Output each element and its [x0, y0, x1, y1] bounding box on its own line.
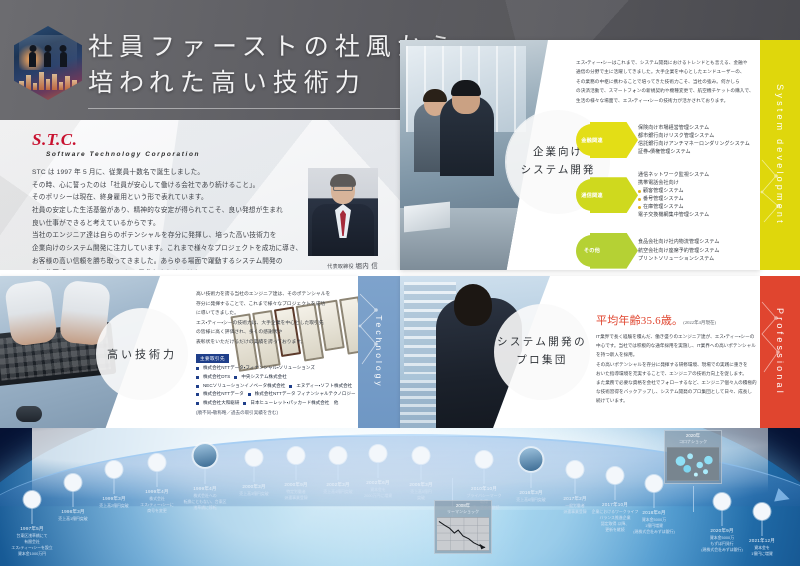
timeline-year: 2002年3月	[323, 482, 352, 488]
timeline-year: 2000年9月	[284, 482, 307, 488]
client-name: 株式会社NTTデータ フィナンシャルテクノロジー	[255, 390, 356, 399]
bubble-line2: プロ集団	[516, 352, 568, 370]
service-item-row: 在庫管理システム	[638, 203, 709, 211]
bubble-line1: システム開発の	[497, 334, 587, 352]
system-development-intro: エス・ティー・シーはこれまで、システム開発におけるトレンドとも言える、金融や 通…	[576, 58, 752, 105]
client-row: 株式会社DTS 中央システム株式会社	[196, 373, 358, 382]
intro-line: その業務の中枢に携わることで培ってきた技術力こそ、当社の強み。何かしら	[576, 77, 752, 86]
service-items: 通信ネットワーク監視システム 携帯電話会社向け 顧客管理システム 番号管理システ…	[638, 171, 709, 220]
square-bullet-icon	[196, 385, 199, 388]
service-item: 顧客管理システム	[643, 187, 684, 195]
stc-logo: S.T.C. Software Technology Corporation	[32, 130, 200, 158]
service-item: プリントソリューションシステム	[638, 255, 719, 263]
timeline-year: 2010年10月	[467, 486, 502, 492]
timeline-text: 特定労働者派遣事業登録	[284, 489, 307, 501]
client-row: 株式会社NTTデータ・フィナンシャル・ソリューションズ	[196, 364, 358, 373]
timeline-year: 1999年4月	[140, 489, 174, 495]
timeline-year: 2000年3月	[239, 484, 268, 490]
technology-line: 高い技術力を誇る当社のエンジニア達は、そのポテンシャルを	[196, 290, 352, 300]
timeline-text: 売上高4億円突破	[323, 489, 352, 495]
timeline-text: 台東区浅草橋にて有限会社エス・ティー・シーを設立資本金1000万円	[11, 533, 52, 556]
timeline-year: 2002年6月	[364, 480, 392, 486]
service-item: 信託銀行向けアンチマネーロンダリングシステム	[638, 140, 750, 148]
professional-line: また業務で必要な資格を会社でフォローするなど、エンジニア個々人の積極的	[596, 378, 752, 387]
inset-stem	[693, 486, 694, 512]
technology-line: 表彰状をいただけるだけの実績を誇っております。	[196, 338, 352, 348]
timeline-node-dot	[714, 493, 731, 510]
client-name: 株式会社DTS	[203, 373, 230, 382]
side-tab-system-development: System development	[760, 40, 800, 270]
timeline-text: 株式会社への転換にともない、台東区浅草橋に移転	[184, 493, 227, 511]
timeline-node-dot	[413, 447, 430, 464]
timeline-node-photo	[519, 447, 544, 472]
inset-lehman-shock[interactable]: 2008年 リーマンショック	[434, 500, 492, 554]
technology-text: 高い技術力を誇る当社のエンジニア達は、そのポテンシャルを 存分に発揮することで、…	[196, 290, 352, 348]
service-items: 食品会社向け社内物流管理システム 航空会社向け座席予約管理システム プリントソリ…	[638, 238, 719, 262]
service-item: 保険向け市場経営管理システム	[638, 124, 750, 132]
service-item: 電子交換機網集中管理システム	[638, 211, 709, 219]
client-name: 中央システム株式会社	[241, 373, 286, 382]
intro-line: エス・ティー・シーはこれまで、システム開発におけるトレンドとも言える、金融や	[576, 58, 752, 67]
timeline-year: 2005年3月	[409, 482, 432, 488]
side-tab-label: System development	[775, 84, 785, 226]
declining-chart-icon	[437, 517, 489, 551]
technology-line: 存分に発揮することで、これまで様々なプロジェクトを成功	[196, 300, 352, 310]
service-item-row: 番号管理システム	[638, 195, 709, 203]
service-item-row: 顧客管理システム	[638, 187, 709, 195]
stc-logo-main: S.T.C.	[32, 130, 200, 150]
timeline-node-dot	[370, 445, 387, 462]
executive-photo	[308, 168, 378, 256]
average-age-note: (2022年4月現在)	[683, 320, 716, 325]
executive-role: 代表取締役	[327, 264, 354, 270]
timeline-node-dot	[476, 451, 493, 468]
timeline-node-dot	[246, 449, 263, 466]
inset-label: リーマンショック	[437, 509, 489, 515]
timeline-node-dot	[149, 454, 166, 471]
professional-line: を持つ新人を採用。	[596, 350, 752, 359]
timeline-text: 売上高3億円突破	[239, 491, 268, 497]
timeline-node-dot	[754, 503, 771, 520]
client-company-list: 株式会社NTTデータ・フィナンシャル・ソリューションズ 株式会社DTS 中央シス…	[196, 364, 358, 418]
professional-line: 中心です。当社では积极的な通年採用を実施し、IT業界への高いポテンシャル	[596, 341, 752, 350]
technology-panel: 高い技術力 高い技術力を誇る当社のエンジニア達は、そのポテンシャルを 存分に発揮…	[0, 276, 358, 428]
timeline-node-dot	[106, 461, 123, 478]
timeline-text: 売上高6億円突破	[516, 497, 545, 503]
group-label: 金融関連	[576, 124, 608, 156]
square-bullet-icon	[196, 376, 199, 379]
timeline-text: 資本金を1億円に増資	[749, 545, 775, 557]
timeline-year: 2020年9月	[701, 528, 743, 534]
service-item: 証券・債権管理システム	[638, 148, 750, 156]
profile-line: 社員の安定した生活基盤があり、精神的な安定が得られてこそ、良い発想が生まれ	[32, 205, 294, 218]
client-name: 株式会社NTTデータ	[203, 390, 244, 399]
executive-name: 堀内 信	[355, 263, 378, 270]
timeline-node-dot	[330, 447, 347, 464]
profile-line: そのポリシーは現在、終身雇用という形で表れています。	[32, 192, 294, 205]
technology-bubble: 高い技術力	[96, 308, 188, 400]
timeline-text: 株式会社エス・ティー・シーに商号を変更	[140, 496, 174, 514]
professional-line: な技術習得をバックアップし、システム開発のプロ集団として日々、成長し	[596, 387, 752, 396]
service-item: 在庫管理システム	[643, 203, 684, 211]
timeline-node-dot	[65, 474, 82, 491]
timeline-node-dot	[567, 461, 584, 478]
square-bullet-icon	[234, 376, 237, 379]
service-group: 通信関連 通信ネットワーク監視システム 携帯電話会社向け 顧客管理システム 番号…	[576, 171, 756, 220]
professional-line: その高いポテンシャルを存分に発揮する研修環境、現場での実践に重きを	[596, 360, 752, 369]
professional-line: おいた指導環境を充実することで、エンジニアの技術力向上を促します。	[596, 369, 752, 378]
service-item: 携帯電話会社向け	[638, 179, 709, 187]
timeline-node-dot	[288, 447, 305, 464]
client-name: 株式会社大和総研	[203, 399, 239, 408]
timeline-year: 2017年10月	[592, 502, 639, 508]
timeline-node-dot	[24, 491, 41, 508]
timeline-year: 1999年4月	[184, 486, 227, 492]
intro-line: 通信の分野で主に活躍してきました。大手企業を中心としたエンドユーザーの、	[576, 67, 752, 76]
client-row: 株式会社大和総研 日本ヒューレット・パッカード株式会社 他	[196, 399, 358, 408]
timeline-year: 2017年2月	[563, 496, 586, 502]
service-items: 保険向け市場経営管理システム 都市銀行向けリスク管理システム 信託銀行向けアンチ…	[638, 124, 750, 156]
profile-line: 当社のエンジニア達は自らのポテンシャルを存分に発揮し、培った高い技術力を	[32, 230, 294, 243]
brochure-page: 社員ファーストの社風から 培われた高い技術力 S.T.C. Software T…	[0, 0, 800, 566]
service-item: 航空会社向け座席予約管理システム	[638, 247, 719, 255]
profile-line: プロ集団「エス・ティー・シー」に、是非おまかせください。	[32, 268, 294, 270]
timeline-node-dot	[607, 467, 624, 484]
timeline-node-dot	[646, 475, 663, 492]
side-tab-label: Professional	[775, 308, 785, 396]
professional-line: IT業界で長く経験を積んだ、働き盛りのエンジニア達が、エス・ティー・シーの	[596, 332, 752, 341]
client-name: NECソリューションイノベータ株式会社	[203, 382, 285, 391]
timeline-text: 売上高2億円突破	[99, 503, 128, 509]
timeline-year: 1997年5月	[11, 526, 52, 532]
client-list-note: (順不同・敬称略／過去の取引実績を含む)	[196, 409, 358, 418]
timeline-year: 2021年12月	[749, 538, 775, 544]
executive-caption: 代表取締役 堀内 信	[308, 260, 378, 270]
timeline-year: 1998年3月	[58, 509, 87, 515]
intro-line: 生活の様々な場面で、エス・ティー・シーの技術力が活かされております。	[576, 96, 752, 105]
side-tab-label: Technology	[374, 315, 384, 388]
square-bullet-icon	[196, 402, 199, 405]
profile-line: 企業向けのシステム開発に注力しています。これまで様々なプロジェクトを成功に導き、	[32, 243, 294, 256]
technology-line: に導いてきました。	[196, 309, 352, 319]
clients-tag: 主要取引先	[196, 354, 229, 363]
profile-line: STC は 1997 年 5 月に、従業員十数名で誕生しました。	[32, 167, 294, 180]
professional-bubble: システム開発の プロ集団	[494, 304, 590, 400]
average-age-headline: 平均年齢35.6歳。(2022年4月現在)	[596, 312, 716, 328]
hex-badge-telecom: 通信関連	[576, 175, 638, 215]
timeline-text: 一般労働者派遣事業登録	[563, 503, 586, 515]
client-name: エヌディー・ソフト株式会社	[296, 382, 352, 391]
professional-panel: システム開発の プロ集団 平均年齢35.6歳。(2022年4月現在) IT業界で…	[400, 276, 760, 428]
technology-line: の皆様に高く評価され、多くの感謝状や	[196, 328, 352, 338]
technology-line: エス・ティー・シーの技術力は、大手企業を中心とした取引先	[196, 319, 352, 329]
company-profile-panel: S.T.C. Software Technology Corporation S…	[0, 120, 400, 270]
square-bullet-icon	[243, 402, 246, 405]
side-tab-professional: Professional	[760, 276, 800, 428]
service-item: 食品会社向け社内物流管理システム	[638, 238, 719, 246]
system-development-panel: 企業向け システム開発 エス・ティー・シーはこれまで、システム開発におけるトレン…	[400, 40, 760, 270]
timeline-year: 1999年3月	[99, 496, 128, 502]
service-group: その他 食品会社向け社内物流管理システム 航空会社向け座席予約管理システム プリ…	[576, 231, 756, 270]
timeline-text: 売上高1億円突破	[58, 516, 87, 522]
profile-text: STC は 1997 年 5 月に、従業員十数名で誕生しました。 その時、心に誓…	[32, 167, 294, 270]
service-item: 番号管理システム	[643, 195, 684, 203]
profile-line: お客様の高い信頼を勝ち取ってきました。あらゆる場面で躍動するシステム開発の	[32, 256, 294, 269]
average-age-value: 平均年齢35.6歳。	[596, 315, 683, 327]
side-tab-technology: Technology	[358, 276, 400, 428]
professional-text: IT業界で長く経験を積んだ、働き盛りのエンジニア達が、エス・ティー・シーの 中心…	[596, 332, 752, 406]
company-history-timeline: 1997年5月 台東区浅草橋にて有限会社エス・ティー・シーを設立資本金1000万…	[0, 428, 800, 566]
professional-line: 続けています。	[596, 396, 752, 405]
timeline-year: 2018年6月	[633, 510, 675, 516]
virus-icon	[667, 447, 719, 481]
client-name: 株式会社NTTデータ・フィナンシャル・ソリューションズ	[203, 364, 315, 373]
client-row: NECソリューションイノベータ株式会社 エヌディー・ソフト株式会社	[196, 382, 358, 391]
service-group: 金融関連 保険向け市場経営管理システム 都市銀行向けリスク管理システム 信託銀行…	[576, 120, 756, 160]
timeline-text: 資本金5000万もずほ円発行(現株式会社みずほ銀行)	[701, 535, 743, 553]
timeline-text: 企業におけるワークライフバランス推進企業認定取得 以降、更新を継続	[592, 509, 639, 532]
service-item: 都市銀行向けリスク管理システム	[638, 132, 750, 140]
profile-line: その時、心に誓ったのは「社員が安心して働ける会社であり続けること」。	[32, 180, 294, 193]
square-bullet-icon	[289, 385, 292, 388]
group-label: その他	[576, 235, 608, 267]
cube-logo-icon	[14, 26, 82, 100]
inset-corona-shock[interactable]: 2020年 コロナショック	[664, 430, 722, 484]
square-bullet-icon	[248, 393, 251, 396]
service-category-flow: 金融関連 保険向け市場経営管理システム 都市銀行向けリスク管理システム 信託銀行…	[576, 120, 756, 270]
profile-line: 良い仕事ができると考えているからです。	[32, 218, 294, 231]
hex-badge-other: その他	[576, 231, 638, 270]
square-bullet-icon	[196, 367, 199, 370]
timeline-node-photo	[193, 443, 218, 468]
timeline-text: 資本金を2000万円に増資	[364, 487, 392, 499]
inset-label: コロナショック	[667, 439, 719, 445]
square-bullet-icon	[196, 393, 199, 396]
bullet-dot-icon	[638, 198, 641, 201]
bullet-dot-icon	[638, 190, 641, 193]
hex-badge-finance: 金融関連	[576, 120, 638, 160]
bullet-dot-icon	[638, 206, 641, 209]
timeline-text: 資本金5000万1億円増資(現株式会社みずほ銀行)	[633, 517, 675, 535]
stc-logo-sub: Software Technology Corporation	[46, 151, 200, 158]
timeline-text: 売上高5億円突破	[409, 489, 432, 501]
service-item: 通信ネットワーク監視システム	[638, 171, 709, 179]
intro-line: の決済活動で、スマートフォンの新規契約や機種変更で、航空機チケットの購入で、	[576, 86, 752, 95]
timeline-year: 2016年3月	[516, 490, 545, 496]
client-name: 日本ヒューレット・パッカード株式会社 他	[250, 399, 338, 408]
client-row: 株式会社NTTデータ 株式会社NTTデータ フィナンシャルテクノロジー	[196, 390, 358, 399]
